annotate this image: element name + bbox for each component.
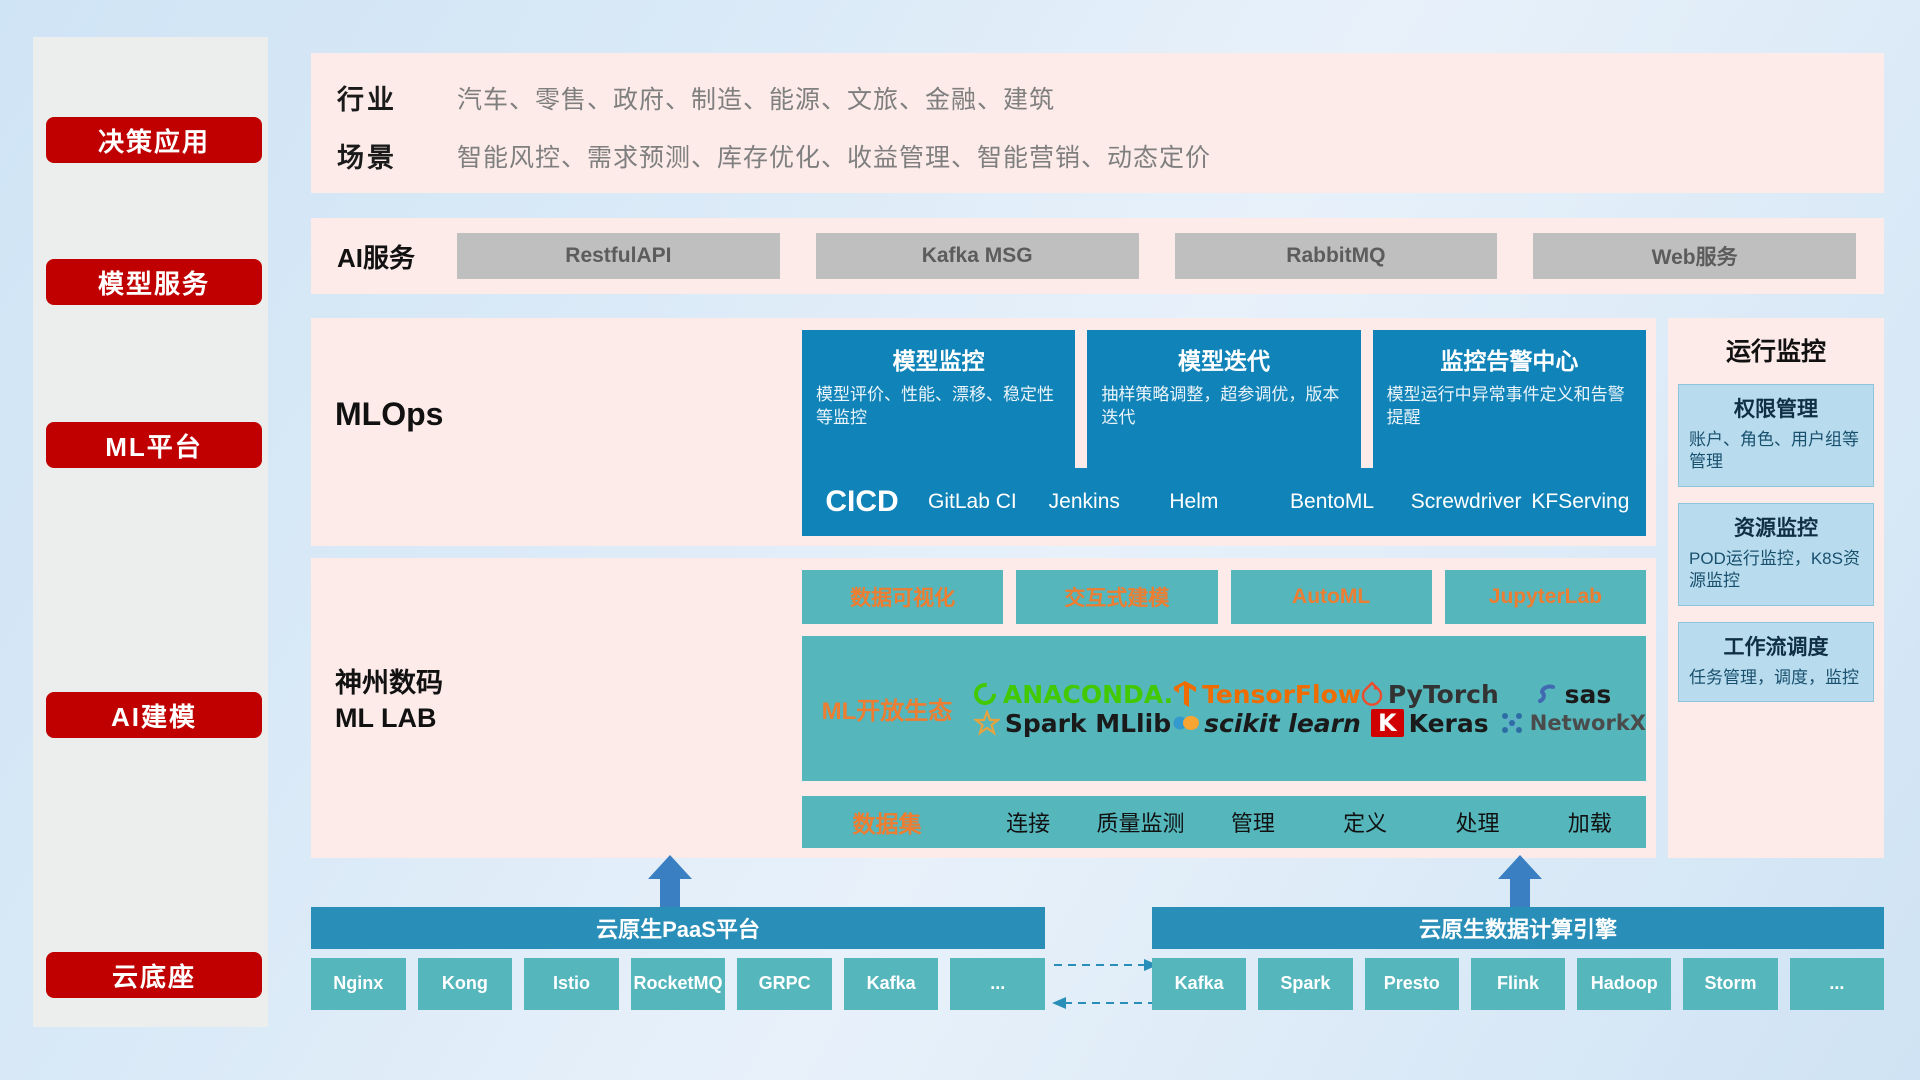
keras-icon: K xyxy=(1371,709,1404,737)
dataset-item-define[interactable]: 定义 xyxy=(1309,806,1421,838)
stage-label-ai-modeling[interactable]: AI建模 xyxy=(46,692,262,738)
anaconda-icon xyxy=(972,681,998,707)
bidirectional-dashed-arrows-icon xyxy=(1050,955,1160,1015)
monitoring-card-workflow[interactable]: 工作流调度 任务管理，调度，监控 xyxy=(1678,622,1874,702)
tensorflow-logo-text: TensorFlow xyxy=(1202,680,1361,709)
dataset-item-manage[interactable]: 管理 xyxy=(1197,806,1309,838)
scikit-learn-icon xyxy=(1173,712,1199,734)
mlops-card-model-iteration[interactable]: 模型迭代 抽样策略调整，超参调优，版本迭代 xyxy=(1087,330,1360,472)
networkx-logo-text: NetworkX xyxy=(1530,711,1646,735)
dataset-bar: 数据集 连接 质量监测 管理 定义 处理 加载 xyxy=(802,796,1646,848)
engine-chip-hadoop[interactable]: Hadoop xyxy=(1577,958,1671,1010)
tensorflow-logo: TensorFlow xyxy=(1173,680,1361,709)
monitoring-card-title: 资源监控 xyxy=(1689,512,1863,542)
ml-lab-label-line1: 神州数码 xyxy=(335,666,505,701)
cicd-item-list: GitLab CI Jenkins Helm BentoML Screwdriv… xyxy=(922,490,1646,514)
networkx-logo: NetworkX xyxy=(1499,710,1646,736)
ai-service-chip-list: RestfulAPI Kafka MSG RabbitMQ Web服务 xyxy=(457,233,1884,279)
monitoring-card-title: 工作流调度 xyxy=(1689,631,1863,661)
data-compute-engine-bar[interactable]: 云原生数据计算引擎 xyxy=(1152,907,1884,949)
mlops-label: MLOps xyxy=(335,396,485,433)
networkx-icon xyxy=(1499,710,1525,736)
mlops-band: MLOps 模型监控 模型评价、性能、漂移、稳定性等监控 模型迭代 抽样策略调整… xyxy=(311,318,1656,546)
paas-chip-istio[interactable]: Istio xyxy=(524,958,619,1010)
mlops-card-title: 监控告警中心 xyxy=(1387,342,1632,376)
monitoring-card-desc: 账户、角色、用户组等管理 xyxy=(1689,429,1863,474)
mlops-card-desc: 抽样策略调整，超参调优，版本迭代 xyxy=(1101,384,1346,430)
ai-service-chip-web-service[interactable]: Web服务 xyxy=(1533,233,1856,279)
engine-chip-more[interactable]: ... xyxy=(1790,958,1884,1010)
industry-value: 汽车、零售、政府、制造、能源、文旅、金融、建筑 xyxy=(457,80,1055,116)
paas-chip-list: Nginx Kong Istio RocketMQ GRPC Kafka ... xyxy=(311,958,1045,1010)
spark-mllib-logo-text: Spark MLlib xyxy=(1005,709,1171,738)
monitoring-card-permission[interactable]: 权限管理 账户、角色、用户组等管理 xyxy=(1678,384,1874,487)
monitoring-card-desc: 任务管理，调度，监控 xyxy=(1689,667,1863,689)
stage-label-ml-platform[interactable]: ML平台 xyxy=(46,422,262,468)
cicd-item-helm[interactable]: Helm xyxy=(1163,490,1284,514)
dataset-item-quality[interactable]: 质量监测 xyxy=(1084,806,1196,838)
scenario-label: 场景 xyxy=(337,136,457,175)
industry-label: 行业 xyxy=(337,78,457,117)
mlops-card-list: 模型监控 模型评价、性能、漂移、稳定性等监控 模型迭代 抽样策略调整，超参调优，… xyxy=(802,330,1646,472)
ml-ecosystem-title: ML开放生态 xyxy=(802,691,972,726)
monitoring-card-resource[interactable]: 资源监控 POD运行监控，K8S资源监控 xyxy=(1678,503,1874,606)
spark-mllib-logo: Spark MLlib xyxy=(974,709,1171,738)
anaconda-logo-text: ANACONDA. xyxy=(1003,680,1173,709)
dataset-label: 数据集 xyxy=(802,805,972,839)
dataset-item-process[interactable]: 处理 xyxy=(1421,806,1533,838)
engine-chip-list: Kafka Spark Presto Flink Hadoop Storm ..… xyxy=(1152,958,1884,1010)
runtime-monitoring-column: 运行监控 权限管理 账户、角色、用户组等管理 资源监控 POD运行监控，K8S资… xyxy=(1668,318,1884,858)
dataset-item-load[interactable]: 加载 xyxy=(1534,806,1646,838)
engine-chip-kafka[interactable]: Kafka xyxy=(1152,958,1246,1010)
stage-label-decision-app[interactable]: 决策应用 xyxy=(46,117,262,163)
ml-ecosystem-logo-grid: ANACONDA. TensorFlow PyTorch xyxy=(972,680,1646,738)
dataset-item-connect[interactable]: 连接 xyxy=(972,806,1084,838)
ai-service-label: AI服务 xyxy=(337,238,457,275)
cicd-item-gitlab-ci[interactable]: GitLab CI xyxy=(922,490,1043,514)
mlops-card-alert-center[interactable]: 监控告警中心 模型运行中异常事件定义和告警提醒 xyxy=(1373,330,1646,472)
ai-service-chip-kafka-msg[interactable]: Kafka MSG xyxy=(816,233,1139,279)
ai-service-band: AI服务 RestfulAPI Kafka MSG RabbitMQ Web服务 xyxy=(311,218,1884,294)
scenario-value: 智能风控、需求预测、库存优化、收益管理、智能营销、动态定价 xyxy=(457,138,1211,174)
ml-lab-label-line2: ML LAB xyxy=(335,701,505,736)
engine-chip-storm[interactable]: Storm xyxy=(1683,958,1777,1010)
cicd-item-screwdriver[interactable]: Screwdriver xyxy=(1405,490,1526,514)
paas-platform-bar[interactable]: 云原生PaaS平台 xyxy=(311,907,1045,949)
ml-lab-tool-data-visualization[interactable]: 数据可视化 xyxy=(802,570,1003,624)
pytorch-logo-text: PyTorch xyxy=(1388,680,1499,709)
keras-logo: K Keras xyxy=(1371,709,1489,738)
ai-service-chip-rabbitmq[interactable]: RabbitMQ xyxy=(1175,233,1498,279)
industry-scenario-band: 行业 汽车、零售、政府、制造、能源、文旅、金融、建筑 场景 智能风控、需求预测、… xyxy=(311,53,1884,193)
mlops-card-desc: 模型评价、性能、漂移、稳定性等监控 xyxy=(816,384,1061,430)
anaconda-logo: ANACONDA. xyxy=(972,680,1173,709)
engine-chip-flink[interactable]: Flink xyxy=(1471,958,1565,1010)
mlops-card-desc: 模型运行中异常事件定义和告警提醒 xyxy=(1387,384,1632,430)
ml-lab-band: 神州数码 ML LAB 数据可视化 交互式建模 AutoML JupyterLa… xyxy=(311,558,1656,858)
paas-chip-kafka[interactable]: Kafka xyxy=(844,958,939,1010)
mlops-card-title: 模型迭代 xyxy=(1101,342,1346,376)
cicd-item-jenkins[interactable]: Jenkins xyxy=(1043,490,1164,514)
ml-lab-label: 神州数码 ML LAB xyxy=(335,666,505,736)
monitoring-card-title: 权限管理 xyxy=(1689,393,1863,423)
engine-chip-presto[interactable]: Presto xyxy=(1365,958,1459,1010)
ai-service-chip-restfulapi[interactable]: RestfulAPI xyxy=(457,233,780,279)
pytorch-logo: PyTorch xyxy=(1361,680,1499,709)
paas-chip-kong[interactable]: Kong xyxy=(418,958,513,1010)
paas-chip-nginx[interactable]: Nginx xyxy=(311,958,406,1010)
dataset-item-list: 连接 质量监测 管理 定义 处理 加载 xyxy=(972,806,1646,838)
mlops-card-title: 模型监控 xyxy=(816,342,1061,376)
cicd-item-kfserving[interactable]: KFServing xyxy=(1525,490,1646,514)
monitoring-card-desc: POD运行监控，K8S资源监控 xyxy=(1689,548,1863,593)
scikit-learn-logo-text: scikit learn xyxy=(1204,709,1361,738)
pytorch-icon xyxy=(1361,681,1383,707)
stage-label-cloud-base[interactable]: 云底座 xyxy=(46,952,262,998)
arrow-up-paas-icon xyxy=(640,855,700,907)
runtime-monitoring-title: 运行监控 xyxy=(1668,318,1884,368)
cicd-bar: CICD GitLab CI Jenkins Helm BentoML Scre… xyxy=(802,468,1646,536)
stage-label-model-service[interactable]: 模型服务 xyxy=(46,259,262,305)
ml-ecosystem-panel: ML开放生态 ANACONDA. TensorFlow xyxy=(802,636,1646,781)
paas-chip-more[interactable]: ... xyxy=(950,958,1045,1010)
tensorflow-icon xyxy=(1173,680,1197,708)
ml-lab-tool-jupyterlab[interactable]: JupyterLab xyxy=(1445,570,1646,624)
scikit-learn-logo: scikit learn xyxy=(1173,709,1361,738)
ml-lab-tool-list: 数据可视化 交互式建模 AutoML JupyterLab xyxy=(802,570,1646,624)
stage-label-column: 决策应用 模型服务 ML平台 AI建模 云底座 xyxy=(33,37,268,1027)
paas-chip-rocketmq[interactable]: RocketMQ xyxy=(631,958,726,1010)
mlops-card-model-monitoring[interactable]: 模型监控 模型评价、性能、漂移、稳定性等监控 xyxy=(802,330,1075,472)
architecture-diagram: 决策应用 模型服务 ML平台 AI建模 云底座 行业 汽车、零售、政府、制造、能… xyxy=(0,0,1920,1080)
arrow-up-engine-icon xyxy=(1490,855,1550,907)
ml-lab-tool-interactive-modeling[interactable]: 交互式建模 xyxy=(1016,570,1217,624)
engine-chip-spark[interactable]: Spark xyxy=(1258,958,1352,1010)
cicd-label: CICD xyxy=(802,485,922,519)
sas-logo: sas xyxy=(1534,680,1612,709)
sas-icon xyxy=(1534,681,1560,707)
cicd-item-bentoml[interactable]: BentoML xyxy=(1284,490,1405,514)
spark-star-icon xyxy=(974,710,1000,736)
sas-logo-text: sas xyxy=(1565,680,1612,709)
ml-lab-tool-automl[interactable]: AutoML xyxy=(1231,570,1432,624)
keras-logo-text: Keras xyxy=(1409,709,1489,738)
paas-chip-grpc[interactable]: GRPC xyxy=(737,958,832,1010)
